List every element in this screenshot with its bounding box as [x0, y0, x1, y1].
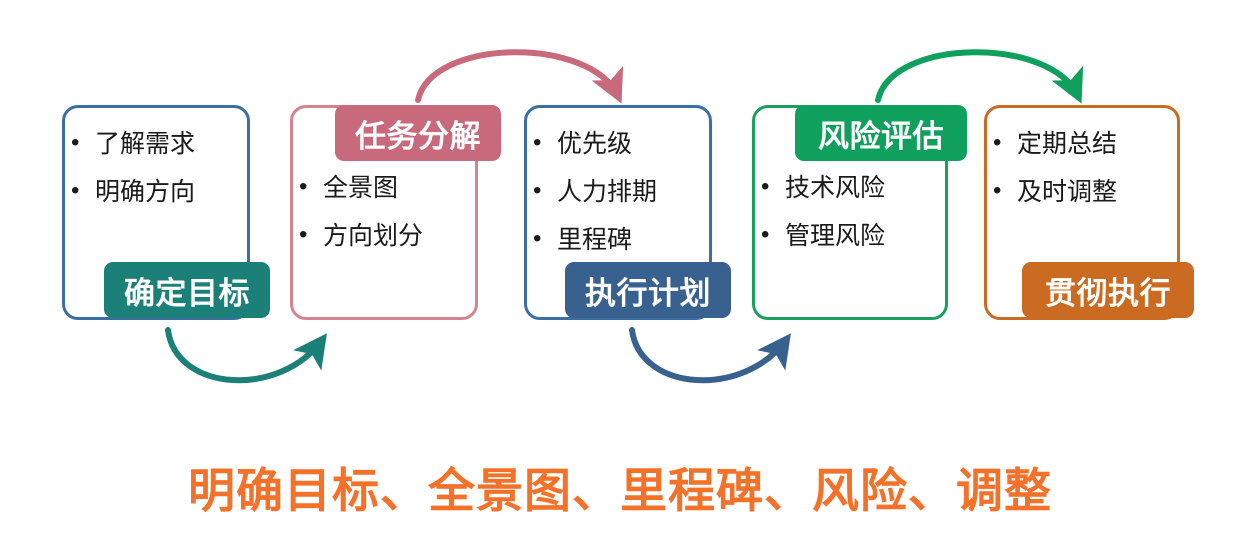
- connector-4-arrow: [878, 52, 1078, 100]
- step-2-bullet-list: 全景图 方向划分: [293, 176, 475, 272]
- list-item: 里程碑: [527, 228, 709, 253]
- step-5-label-text: 贯彻执行: [1045, 268, 1171, 313]
- step-2-label-text: 任务分解: [355, 111, 481, 156]
- list-item: 定期总结: [987, 132, 1177, 157]
- step-3-label-text: 执行计划: [585, 268, 711, 313]
- step-1-bullet-list: 了解需求 明确方向: [65, 132, 247, 228]
- list-item: 明确方向: [65, 180, 247, 205]
- step-5-bullet-list: 定期总结 及时调整: [987, 132, 1177, 228]
- list-item: 人力排期: [527, 180, 709, 205]
- step-4-label-chip[interactable]: 风险评估: [795, 105, 967, 161]
- list-item: 方向划分: [293, 224, 475, 249]
- step-1-label-text: 确定目标: [124, 268, 250, 313]
- summary-caption: 明确目标、全景图、里程碑、风险、调整: [0, 452, 1240, 521]
- connector-1-arrow: [168, 330, 322, 380]
- diagram-canvas: 了解需求 明确方向 确定目标 全景图 方向划分 任务分解 优先级 人力排期 里程…: [0, 0, 1240, 552]
- list-item: 管理风险: [755, 224, 945, 249]
- list-item: 技术风险: [755, 176, 945, 201]
- step-4-bullet-list: 技术风险 管理风险: [755, 176, 945, 272]
- step-3-label-chip[interactable]: 执行计划: [565, 262, 731, 318]
- list-item: 及时调整: [987, 180, 1177, 205]
- step-3-bullet-list: 优先级 人力排期 里程碑: [527, 132, 709, 276]
- step-1-label-chip[interactable]: 确定目标: [104, 262, 270, 318]
- connector-3-arrow: [632, 330, 786, 380]
- step-5-label-chip[interactable]: 贯彻执行: [1022, 262, 1194, 318]
- connector-2-arrow: [418, 52, 618, 100]
- list-item: 全景图: [293, 176, 475, 201]
- step-4-label-text: 风险评估: [818, 111, 944, 156]
- list-item: 了解需求: [65, 132, 247, 157]
- list-item: 优先级: [527, 132, 709, 157]
- step-2-label-chip[interactable]: 任务分解: [335, 105, 501, 161]
